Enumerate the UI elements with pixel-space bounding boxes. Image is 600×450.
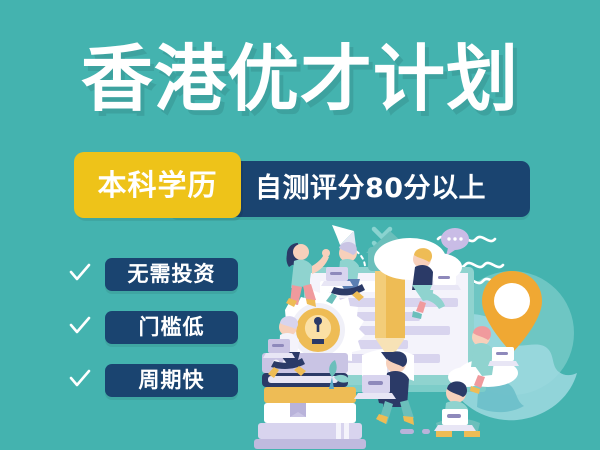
feature-label: 无需投资 [105,258,238,291]
check-icon [68,315,92,339]
feature-list: 无需投资 门槛低 周期快 [68,258,240,417]
list-item: 周期快 [68,364,240,397]
stacked-books-icon [254,387,366,449]
feature-pill: 周期快 [105,364,238,397]
list-item: 无需投资 [68,258,240,291]
chat-bubble-icon [441,228,469,256]
degree-badge-label: 本科学历 [74,152,241,218]
feature-pill: 门槛低 [105,311,238,344]
feature-label: 周期快 [105,364,238,397]
feature-label: 门槛低 [105,311,238,344]
poster-canvas: 香港优才计划 自测评分80分以上 本科学历 无需投资 门槛低 [0,0,600,450]
check-icon [68,262,92,286]
illustration-artwork [250,215,600,450]
list-item: 门槛低 [68,311,240,344]
check-icon [68,368,92,392]
page-title: 香港优才计划 [0,36,600,122]
feature-pill: 无需投资 [105,258,238,291]
degree-badge: 本科学历 [74,152,241,218]
ground-dash-icon [400,429,430,434]
subtitle-row: 自测评分80分以上 本科学历 [74,152,530,218]
